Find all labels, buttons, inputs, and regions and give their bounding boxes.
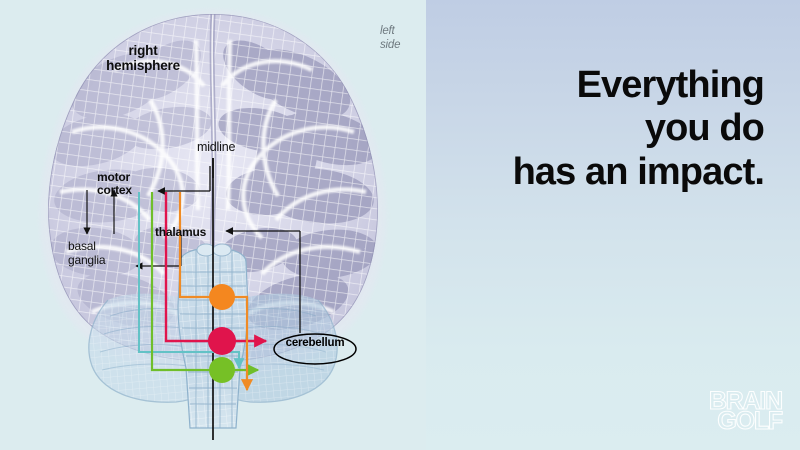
label-basal-ganglia-l2: ganglia xyxy=(68,253,105,267)
diagram-panel: righthemisphere leftside midline motorco… xyxy=(0,0,426,450)
node-crimson xyxy=(208,327,236,355)
label-basal-ganglia-l1: basal xyxy=(68,239,96,253)
label-motor-cortex-l2: cortex xyxy=(97,183,132,197)
label-cerebellum: cerebellum xyxy=(273,337,357,349)
brand-logo: BRAIN GOLF xyxy=(698,391,782,432)
label-motor-cortex-l1: motor xyxy=(97,170,130,184)
annotation-overlay xyxy=(0,0,426,450)
label-right-hemisphere-l2: hemisphere xyxy=(106,58,180,73)
node-green xyxy=(209,357,235,383)
label-right-hemisphere: righthemisphere xyxy=(84,44,202,73)
slide-root: righthemisphere leftside midline motorco… xyxy=(0,0,800,450)
headline-panel: Everything you do has an impact. BRAIN G… xyxy=(426,0,800,450)
label-basal-ganglia: basalganglia xyxy=(68,240,132,267)
headline-line-1: Everything xyxy=(444,64,764,107)
brain-illustration: righthemisphere leftside midline motorco… xyxy=(0,0,426,450)
pathway-green xyxy=(152,192,258,370)
label-left-side: leftside xyxy=(380,24,422,52)
label-right-hemisphere-l1: right xyxy=(129,43,158,58)
label-thalamus: thalamus xyxy=(155,226,206,239)
label-midline: midline xyxy=(197,141,235,155)
label-left-side-l2: side xyxy=(380,39,400,51)
headline: Everything you do has an impact. xyxy=(444,64,764,194)
label-motor-cortex: motorcortex xyxy=(97,171,153,198)
label-left-side-l1: left xyxy=(380,25,395,37)
headline-line-3: has an impact. xyxy=(444,151,764,194)
headline-line-2: you do xyxy=(444,107,764,150)
node-orange xyxy=(209,284,235,310)
